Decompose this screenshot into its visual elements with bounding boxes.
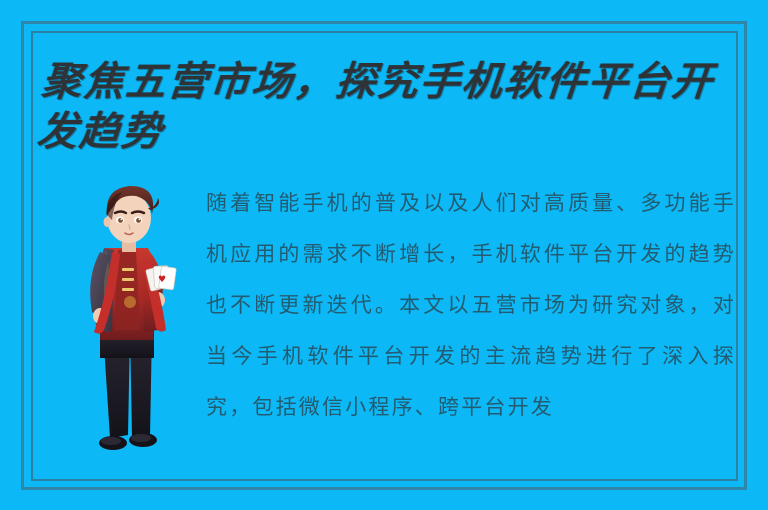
page-title: 聚焦五营市场，探究手机软件平台开发趋势 bbox=[35, 57, 734, 157]
body-paragraph: 随着智能手机的普及以及人们对高质量、多功能手机应用的需求不断增长，手机软件平台开… bbox=[206, 178, 736, 433]
playing-cards-icon: ♥ bbox=[146, 265, 177, 291]
svg-text:♥: ♥ bbox=[158, 275, 166, 285]
character-illustration: ♥ bbox=[70, 180, 182, 475]
character-head bbox=[104, 186, 160, 243]
poster-canvas: 聚焦五营市场，探究手机软件平台开发趋势 随着智能手机的普及以及人们对高质量、多功… bbox=[0, 0, 768, 510]
character-legs bbox=[100, 330, 154, 438]
character-shoes bbox=[99, 433, 157, 450]
